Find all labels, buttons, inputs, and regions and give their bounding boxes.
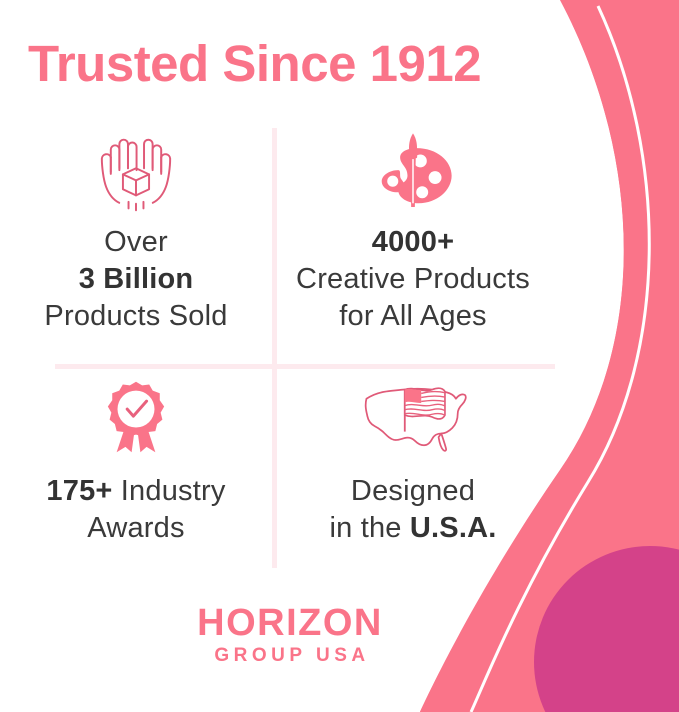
feature-line: for All Ages — [296, 298, 530, 335]
feature-line: in the U.S.A. — [329, 510, 496, 547]
feature-line: 175+ Industry — [46, 473, 225, 510]
brand-tagline: GROUP USA — [0, 646, 580, 665]
feature-line-bold: 4000+ — [296, 224, 530, 261]
brand-name: HORIZON — [0, 604, 580, 642]
feature-line-bold: 3 Billion — [44, 261, 227, 298]
feature-line: Creative Products — [296, 261, 530, 298]
feature-item-industry-awards: 175+ Industry Awards — [0, 371, 272, 593]
feature-text-industry-awards: 175+ Industry Awards — [42, 473, 229, 547]
page-title: Trusted Since 1912 — [0, 36, 580, 91]
feature-grid: Over 3 Billion Products Sold — [0, 126, 580, 571]
feature-line-rest: in the — [329, 512, 409, 544]
feature-line: Over — [44, 224, 227, 261]
paintbrush-tip — [409, 133, 417, 151]
feature-item-creative-products: 4000+ Creative Products for All Ages — [277, 126, 549, 348]
feature-line-bold: 175+ — [46, 475, 112, 507]
flag-canton — [405, 389, 421, 403]
trusted-since-banner: Trusted Since 1912 — [0, 0, 679, 712]
award-ribbon-check-icon — [92, 371, 180, 463]
feature-line: Awards — [46, 510, 225, 547]
hands-holding-box-icon — [80, 126, 192, 218]
feature-item-designed-usa: Designed in the U.S.A. — [277, 371, 549, 593]
feature-line-rest: Industry — [113, 475, 226, 507]
feature-item-products-sold: Over 3 Billion Products Sold — [0, 126, 272, 348]
feature-text-creative-products: 4000+ Creative Products for All Ages — [292, 224, 534, 335]
feature-line: Designed — [329, 473, 496, 510]
feature-text-designed-usa: Designed in the U.S.A. — [325, 473, 500, 547]
feature-text-products-sold: Over 3 Billion Products Sold — [40, 224, 231, 335]
brand-logo: HORIZON GROUP USA — [0, 604, 580, 665]
feature-line-bold: U.S.A. — [410, 512, 497, 544]
paint-palette-brush-icon — [367, 126, 459, 218]
feature-line: Products Sold — [44, 298, 227, 335]
usa-map-flag-icon — [353, 371, 473, 463]
